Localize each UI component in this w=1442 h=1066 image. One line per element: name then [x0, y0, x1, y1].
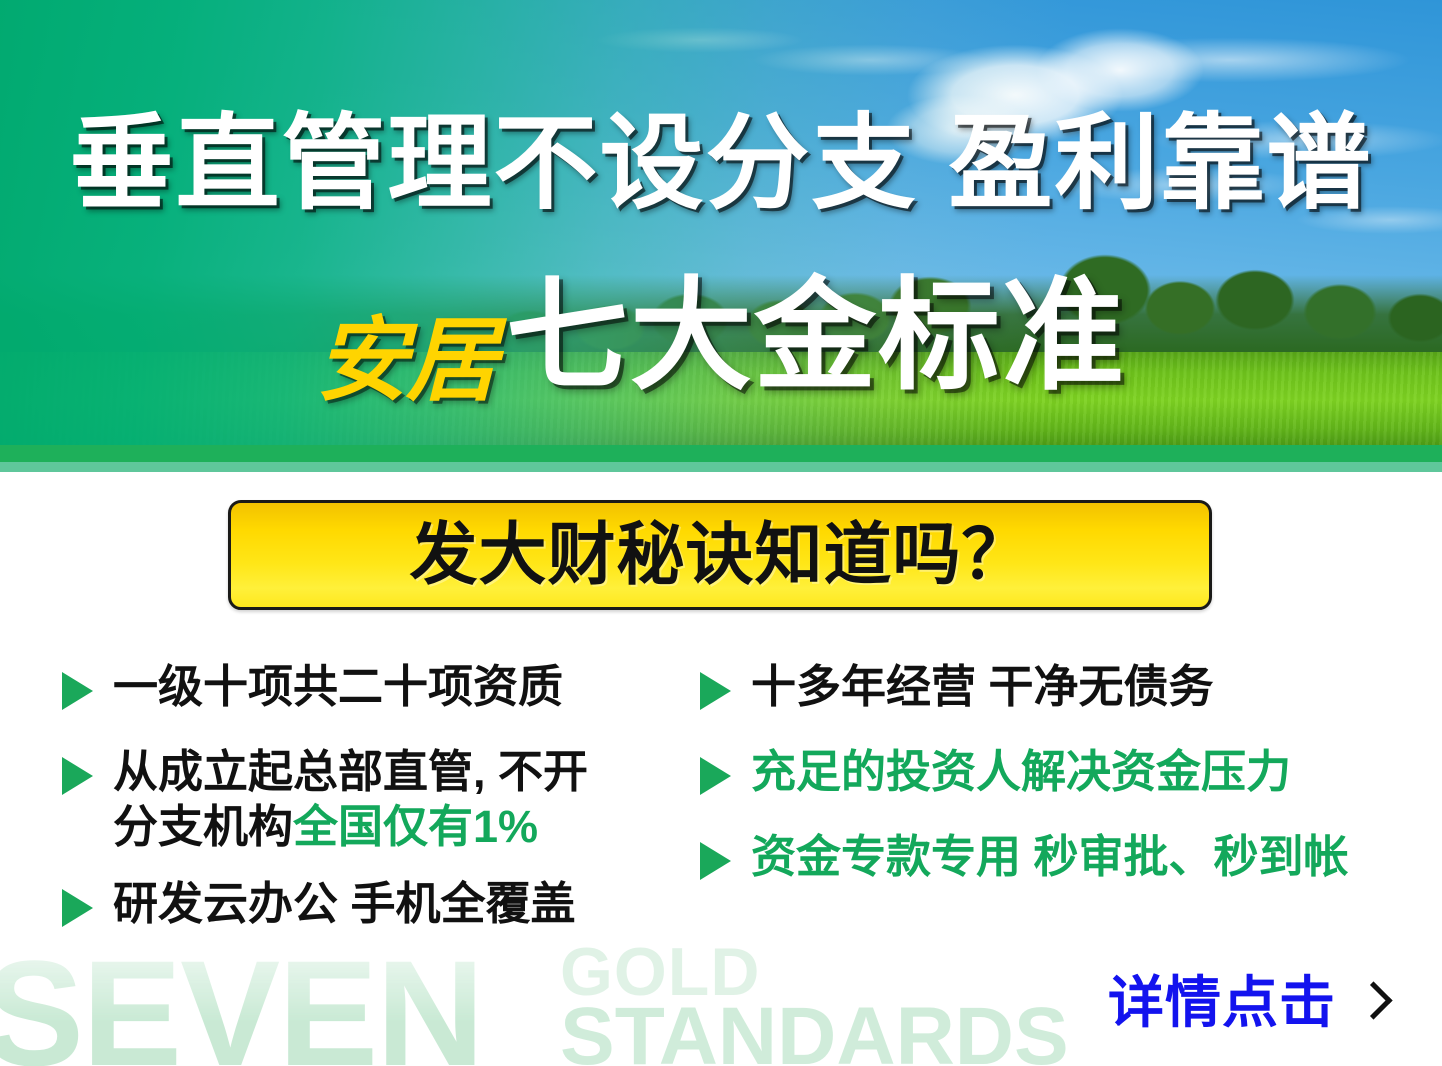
feature-item: 十多年经营 干净无债务	[700, 660, 1400, 715]
feature-item-text: 研发云办公 手机全覆盖	[113, 877, 576, 932]
feature-text-run: 资金专款专用 秒审批、秒到帐	[751, 831, 1349, 882]
feature-column-left: 一级十项共二十项资质从成立起总部直管, 不开分支机构全国仅有1%研发云办公 手机…	[62, 660, 682, 962]
feature-item-text: 十多年经营 干净无债务	[751, 660, 1214, 715]
feature-item: 研发云办公 手机全覆盖	[62, 877, 682, 932]
hero-section: 垂直管理不设分支 盈利靠谱 安居七大金标准	[0, 0, 1442, 472]
feature-item-line: 资金专款专用 秒审批、秒到帐	[751, 830, 1349, 885]
divider-band-dark	[0, 445, 1442, 462]
feature-item-line: 十多年经营 干净无债务	[751, 660, 1214, 715]
question-banner-button[interactable]: 发大财秘诀知道吗？	[228, 500, 1212, 610]
feature-item-line: 分支机构全国仅有1%	[113, 800, 588, 855]
brand-name-cursive: 安居	[316, 314, 496, 406]
hero-headline-slogan: 七大金标准	[506, 275, 1126, 397]
feature-text-run: 分支机构	[113, 801, 293, 852]
feature-item: 从成立起总部直管, 不开分支机构全国仅有1%	[62, 745, 682, 855]
feature-item: 一级十项共二十项资质	[62, 660, 682, 715]
feature-item-text: 从成立起总部直管, 不开分支机构全国仅有1%	[113, 745, 588, 855]
feature-item-line: 从成立起总部直管, 不开	[113, 745, 588, 800]
divider-band-light	[0, 462, 1442, 472]
feature-item-line: 研发云办公 手机全覆盖	[113, 877, 576, 932]
hero-headline-primary: 垂直管理不设分支 盈利靠谱	[0, 112, 1442, 216]
feature-text-run: 从成立起总部直管, 不开	[113, 746, 588, 797]
triangle-right-icon	[700, 842, 731, 880]
feature-text-run: 充足的投资人解决资金压力	[751, 746, 1291, 797]
detail-link[interactable]: 详情点击	[1108, 975, 1384, 1031]
feature-item: 资金专款专用 秒审批、秒到帐	[700, 830, 1400, 885]
feature-text-run: 研发云办公 手机全覆盖	[113, 878, 576, 929]
triangle-right-icon	[700, 672, 731, 710]
watermark-standards: STANDARDS	[560, 996, 1069, 1066]
feature-item-line: 一级十项共二十项资质	[113, 660, 563, 715]
promo-banner: 垂直管理不设分支 盈利靠谱 安居七大金标准 发大财秘诀知道吗？ SEVEN GO…	[0, 0, 1442, 1066]
feature-list: 一级十项共二十项资质从成立起总部直管, 不开分支机构全国仅有1%研发云办公 手机…	[0, 660, 1442, 1000]
hero-headline-secondary: 安居七大金标准	[0, 275, 1442, 406]
feature-item-line: 充足的投资人解决资金压力	[751, 745, 1291, 800]
feature-item: 充足的投资人解决资金压力	[700, 745, 1400, 800]
detail-link-label: 详情点击	[1108, 975, 1336, 1031]
feature-column-right: 十多年经营 干净无债务充足的投资人解决资金压力资金专款专用 秒审批、秒到帐	[700, 660, 1400, 915]
triangle-right-icon	[62, 672, 93, 710]
feature-text-run: 十多年经营 干净无债务	[751, 661, 1214, 712]
feature-item-text: 一级十项共二十项资质	[113, 660, 563, 715]
feature-text-run: 一级十项共二十项资质	[113, 661, 563, 712]
feature-item-text: 充足的投资人解决资金压力	[751, 745, 1291, 800]
chevron-right-icon	[1358, 981, 1384, 1025]
triangle-right-icon	[62, 757, 93, 795]
triangle-right-icon	[62, 889, 93, 927]
triangle-right-icon	[700, 757, 731, 795]
question-banner-label: 发大财秘诀知道吗？	[409, 521, 1030, 589]
feature-highlight: 全国仅有1%	[293, 801, 538, 852]
feature-item-text: 资金专款专用 秒审批、秒到帐	[751, 830, 1349, 885]
